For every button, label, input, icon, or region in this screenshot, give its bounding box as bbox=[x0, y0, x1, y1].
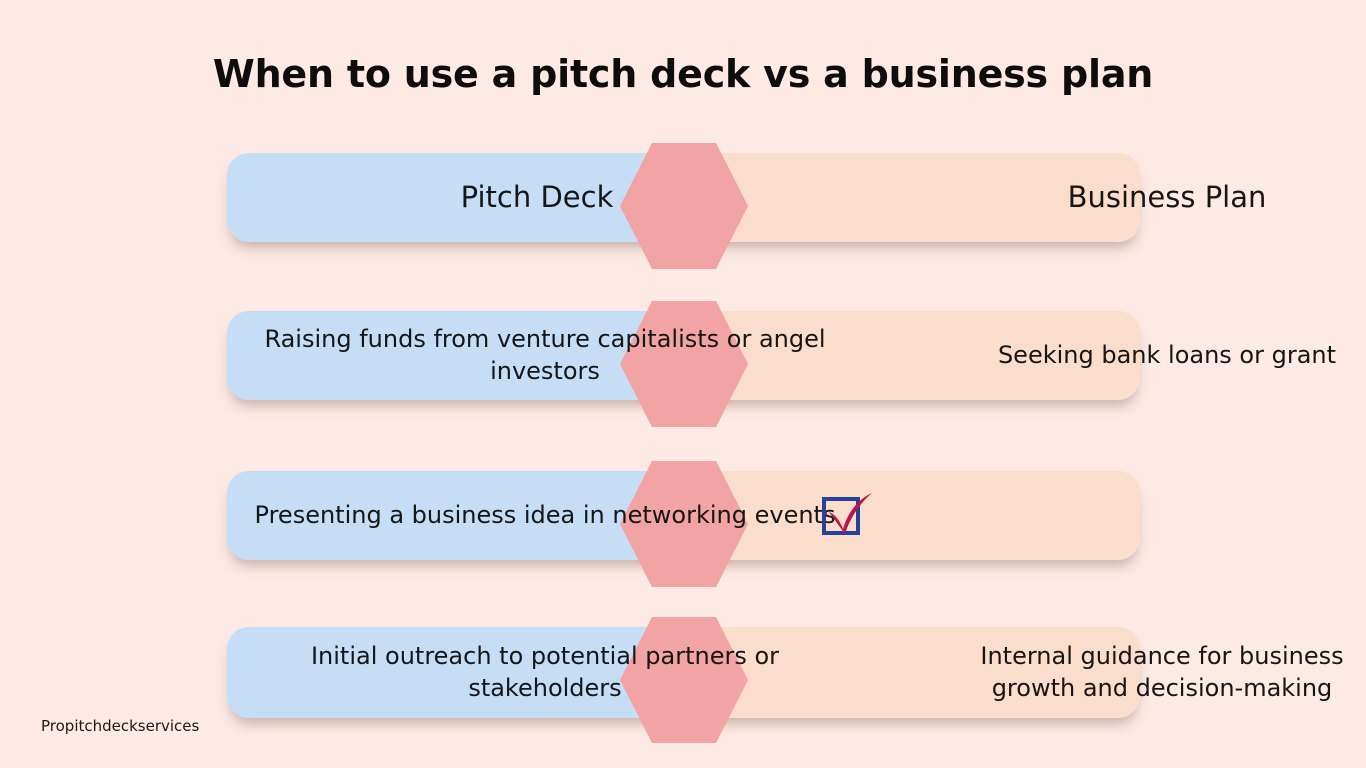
business-plan-use-case: Internal guidance for business growth an… bbox=[962, 627, 1362, 718]
comparison-row: Initial outreach to potential partners o… bbox=[227, 627, 1140, 718]
comparison-table: Pitch Deck Business Plan Raising funds f… bbox=[0, 0, 1366, 768]
column-header-pitch-deck: Pitch Deck bbox=[227, 153, 847, 242]
comparison-row: Raising funds from venture capitalists o… bbox=[227, 311, 1140, 400]
column-header-business-plan: Business Plan bbox=[972, 153, 1362, 242]
pitch-deck-use-case: Initial outreach to potential partners o… bbox=[245, 627, 845, 718]
pitch-deck-use-case: Raising funds from venture capitalists o… bbox=[245, 311, 845, 400]
business-plan-use-case: Seeking bank loans or grant bbox=[972, 311, 1362, 400]
checkbox-checked-icon bbox=[820, 489, 876, 539]
comparison-header-row: Pitch Deck Business Plan bbox=[227, 153, 1140, 242]
watermark-label: Propitchdeckservices bbox=[41, 717, 199, 735]
pitch-deck-use-case: Presenting a business idea in networking… bbox=[245, 471, 845, 560]
business-plan-use-case bbox=[972, 471, 1362, 560]
comparison-row: Presenting a business idea in networking… bbox=[227, 471, 1140, 560]
